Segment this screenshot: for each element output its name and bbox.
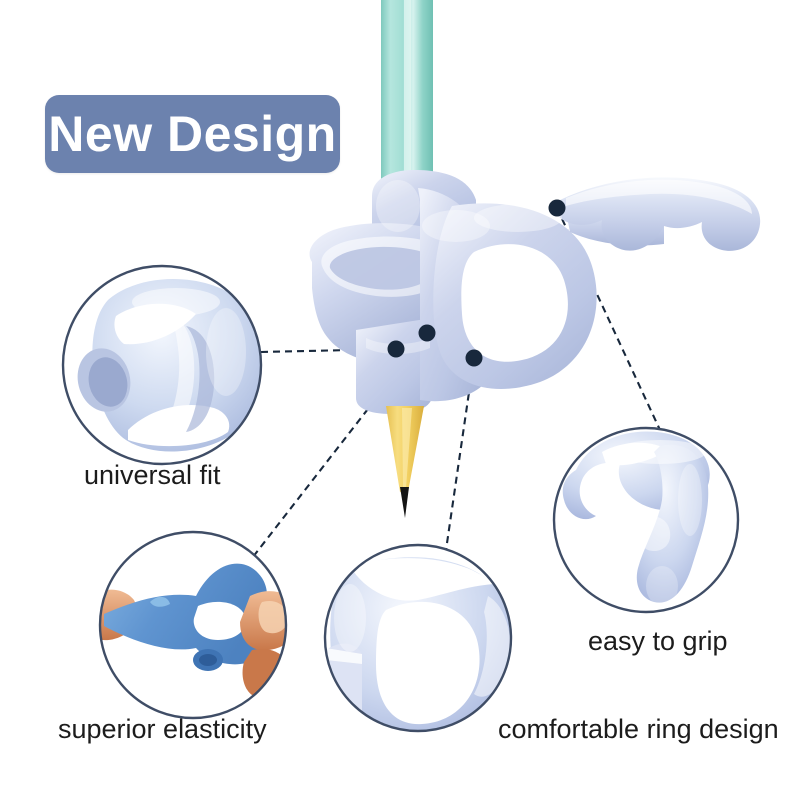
callout-dot-universal-fit (388, 341, 405, 358)
feature-label-superior-elasticity: superior elasticity (58, 716, 267, 743)
feature-label-easy-to-grip: easy to grip (588, 628, 728, 655)
inset-comfortable-ring-design (325, 545, 517, 745)
graphite-tip (400, 487, 409, 518)
feature-label-universal-fit: universal fit (84, 462, 221, 489)
pencil-grip-body (310, 170, 761, 414)
callout-dot-easy-to-grip (549, 200, 566, 217)
inset-universal-fit (63, 266, 265, 464)
pencil-shaft (381, 0, 433, 196)
pencil-tip (386, 406, 424, 518)
callout-dot-comfortable-ring-design (466, 350, 483, 367)
inset-superior-elasticity (84, 532, 299, 718)
infographic-canvas: New Design universal fit superior elasti… (0, 0, 800, 800)
inset-easy-to-grip (553, 427, 739, 613)
new-design-badge-label: New Design (48, 109, 336, 159)
new-design-badge: New Design (45, 95, 340, 173)
callout-dot-superior-elasticity (419, 325, 436, 342)
grip-ring-hole (461, 244, 568, 362)
feature-label-comfortable-ring-design: comfortable ring design (498, 716, 779, 743)
